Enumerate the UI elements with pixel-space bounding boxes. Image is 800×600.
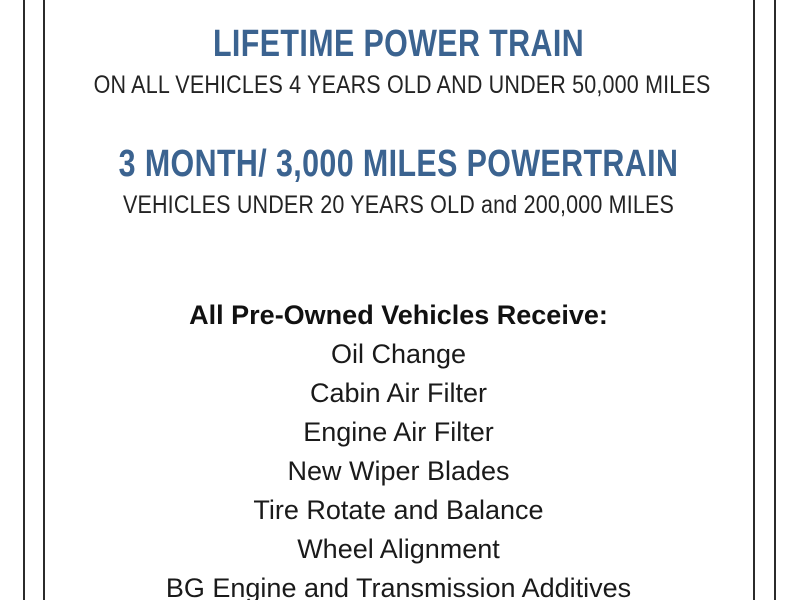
warranty-subline-lifetime: ON ALL VEHICLES 4 YEARS OLD AND UNDER 50… <box>94 70 704 100</box>
warranty-offer-lifetime: LIFETIME POWER TRAIN ON ALL VEHICLES 4 Y… <box>44 0 753 100</box>
warranty-offer-3month: 3 MONTH/ 3,000 MILES POWERTRAIN VEHICLES… <box>44 100 753 220</box>
service-item: Tire Rotate and Balance <box>44 491 753 530</box>
border-rule-right-inner <box>753 0 755 600</box>
warranty-flyer: LIFETIME POWER TRAIN ON ALL VEHICLES 4 Y… <box>0 0 800 600</box>
warranty-subline-3month: VEHICLES UNDER 20 YEARS OLD and 200,000 … <box>94 190 704 220</box>
service-item: Oil Change <box>44 335 753 374</box>
services-list: Oil Change Cabin Air Filter Engine Air F… <box>44 335 753 600</box>
service-item: New Wiper Blades <box>44 452 753 491</box>
services-title: All Pre-Owned Vehicles Receive: <box>44 296 753 335</box>
warranty-headline-lifetime: LIFETIME POWER TRAIN <box>115 22 682 66</box>
service-item: Cabin Air Filter <box>44 374 753 413</box>
service-item: Wheel Alignment <box>44 530 753 569</box>
services-section: All Pre-Owned Vehicles Receive: Oil Chan… <box>44 296 753 600</box>
border-rule-right-outer <box>774 0 776 600</box>
warranty-headline-3month: 3 MONTH/ 3,000 MILES POWERTRAIN <box>115 142 682 186</box>
service-item: BG Engine and Transmission Additives <box>44 569 753 600</box>
service-item: Engine Air Filter <box>44 413 753 452</box>
flyer-content: LIFETIME POWER TRAIN ON ALL VEHICLES 4 Y… <box>44 0 753 600</box>
border-rule-left-outer <box>23 0 25 600</box>
